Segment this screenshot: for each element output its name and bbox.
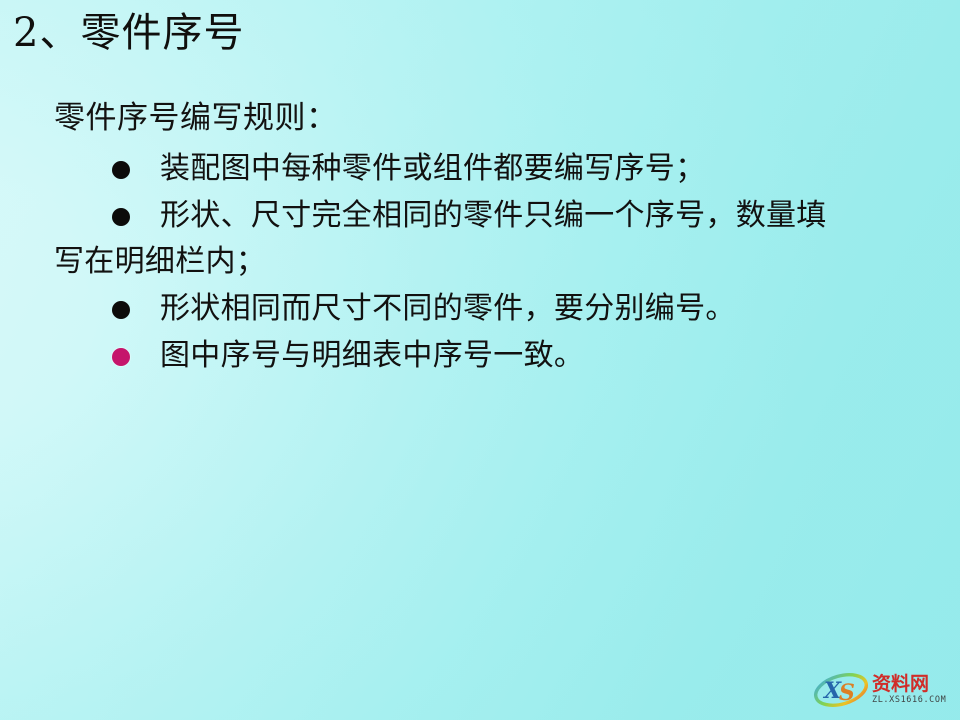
list-item: 形状相同而尺寸不同的零件，要分别编号。 [0,286,960,332]
list-item-text: 形状相同而尺寸不同的零件，要分别编号。 [160,286,900,332]
bullet-icon-accent [112,348,130,366]
bullet-icon [112,161,130,179]
slide-body: 零件序号编写规则： 装配图中每种零件或组件都要编写序号； 形状、尺寸完全相同的零… [0,96,960,380]
bullet-icon [112,301,130,319]
list-item-text: 装配图中每种零件或组件都要编写序号； [160,146,900,192]
rule-list: 装配图中每种零件或组件都要编写序号； 形状、尺寸完全相同的零件只编一个序号，数量… [0,146,960,379]
list-item: 装配图中每种零件或组件都要编写序号； [0,146,960,192]
svg-text:S: S [839,680,855,706]
list-item: 图中序号与明细表中序号一致。 [0,333,960,379]
list-item-text-continuation: 写在明细栏内； [54,239,888,285]
slide-canvas: 2、零件序号 零件序号编写规则： 装配图中每种零件或组件都要编写序号； 形状、尺… [0,0,960,720]
watermark-text-group: 资料网 ZL.XS1616.COM [872,675,946,705]
xs-monogram-icon: X S [812,670,870,710]
watermark-url: ZL.XS1616.COM [872,696,946,705]
list-item-text: 图中序号与明细表中序号一致。 [160,333,900,379]
list-item-text: 形状、尺寸完全相同的零件只编一个序号，数量填 [160,193,888,239]
page-title: 2、零件序号 [13,8,244,58]
list-item: 形状、尺寸完全相同的零件只编一个序号，数量填 写在明细栏内； [0,193,960,285]
bullet-icon [112,208,130,226]
watermark-logo: X S 资料网 ZL.XS1616.COM [812,668,952,712]
section-subtitle: 零件序号编写规则： [54,96,960,140]
watermark-name: 资料网 [872,675,946,694]
